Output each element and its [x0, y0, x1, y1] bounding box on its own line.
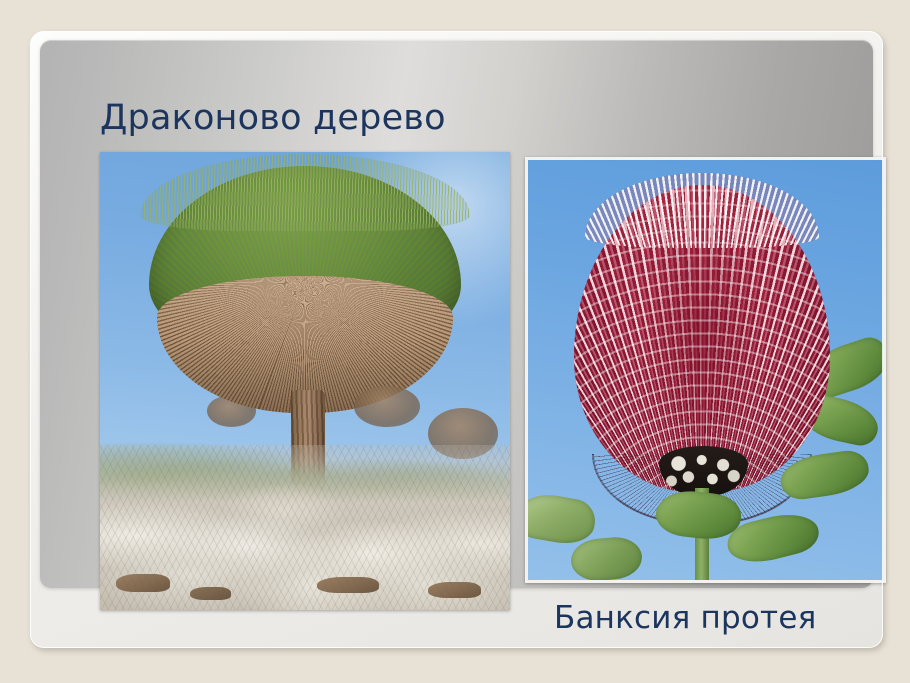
image-banksia-flower [525, 157, 886, 583]
dragon-tree-scene [100, 152, 510, 610]
rocky-ground [100, 445, 510, 610]
background-tree [354, 386, 420, 427]
boulder [116, 574, 169, 592]
boulder [428, 582, 481, 598]
banksia-scene [528, 160, 883, 580]
boulder [317, 577, 379, 593]
image-caption-banksia: Банксия протея [554, 598, 816, 638]
page-title: Драконово дерево [100, 97, 446, 139]
slide-content-panel: Драконово дерево [40, 40, 873, 588]
image-dragon-tree [100, 152, 510, 610]
slide-frame: Драконово дерево [30, 31, 883, 648]
boulder [190, 587, 231, 600]
